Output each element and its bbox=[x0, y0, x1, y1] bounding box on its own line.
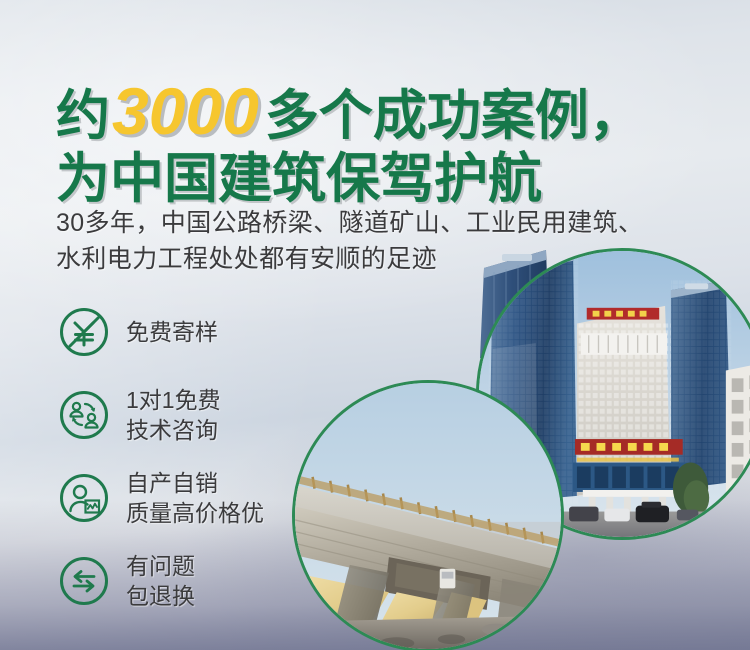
headline-suffix: 多个成功案例， bbox=[265, 86, 643, 146]
feature-label-line-2: 包退换 bbox=[126, 581, 195, 611]
headline-number: 3000 bbox=[110, 74, 265, 148]
feature-label-line-1: 自产自销 bbox=[126, 470, 218, 496]
headline-line-2: 为中国建筑保驾护航 bbox=[56, 152, 696, 206]
feature-item-return-exchange[interactable]: 有问题 包退换 bbox=[58, 545, 264, 617]
feature-label-line-2: 质量高价格优 bbox=[126, 498, 264, 528]
feature-list: 免费寄样 bbox=[58, 296, 264, 628]
headline-line-1: 约3000多个成功案例， bbox=[56, 78, 696, 144]
no-fee-yuan-icon bbox=[58, 306, 110, 358]
feature-label: 免费寄样 bbox=[126, 317, 218, 347]
feature-label-line-2: 技术咨询 bbox=[126, 415, 221, 445]
feature-item-free-sample[interactable]: 免费寄样 bbox=[58, 296, 264, 368]
feature-label-line-1: 1对1免费 bbox=[126, 387, 221, 413]
bridge-photo bbox=[292, 380, 564, 650]
return-exchange-icon bbox=[58, 555, 110, 607]
feature-label: 自产自销 质量高价格优 bbox=[126, 468, 264, 529]
page-title: 约3000多个成功案例， 为中国建筑保驾护航 bbox=[56, 78, 696, 206]
one-on-one-consult-icon bbox=[58, 389, 110, 441]
headline-line-2-text: 为中国建筑保驾护航 bbox=[56, 149, 542, 209]
feature-label: 有问题 包退换 bbox=[126, 551, 195, 612]
feature-label-line-1: 有问题 bbox=[126, 553, 195, 579]
feature-label: 1对1免费 技术咨询 bbox=[126, 385, 221, 446]
self-produce-sell-icon bbox=[58, 472, 110, 524]
headline-prefix: 约 bbox=[56, 86, 110, 146]
subtitle-line-1: 30多年，中国公路桥梁、隧道矿山、工业民用建筑、 bbox=[56, 206, 716, 242]
promo-banner: 约3000多个成功案例， 为中国建筑保驾护航 30多年，中国公路桥梁、隧道矿山、… bbox=[0, 0, 750, 650]
feature-item-self-produce[interactable]: 自产自销 质量高价格优 bbox=[58, 462, 264, 534]
feature-label-line-1: 免费寄样 bbox=[126, 319, 218, 345]
feature-item-one-on-one[interactable]: 1对1免费 技术咨询 bbox=[58, 379, 264, 451]
